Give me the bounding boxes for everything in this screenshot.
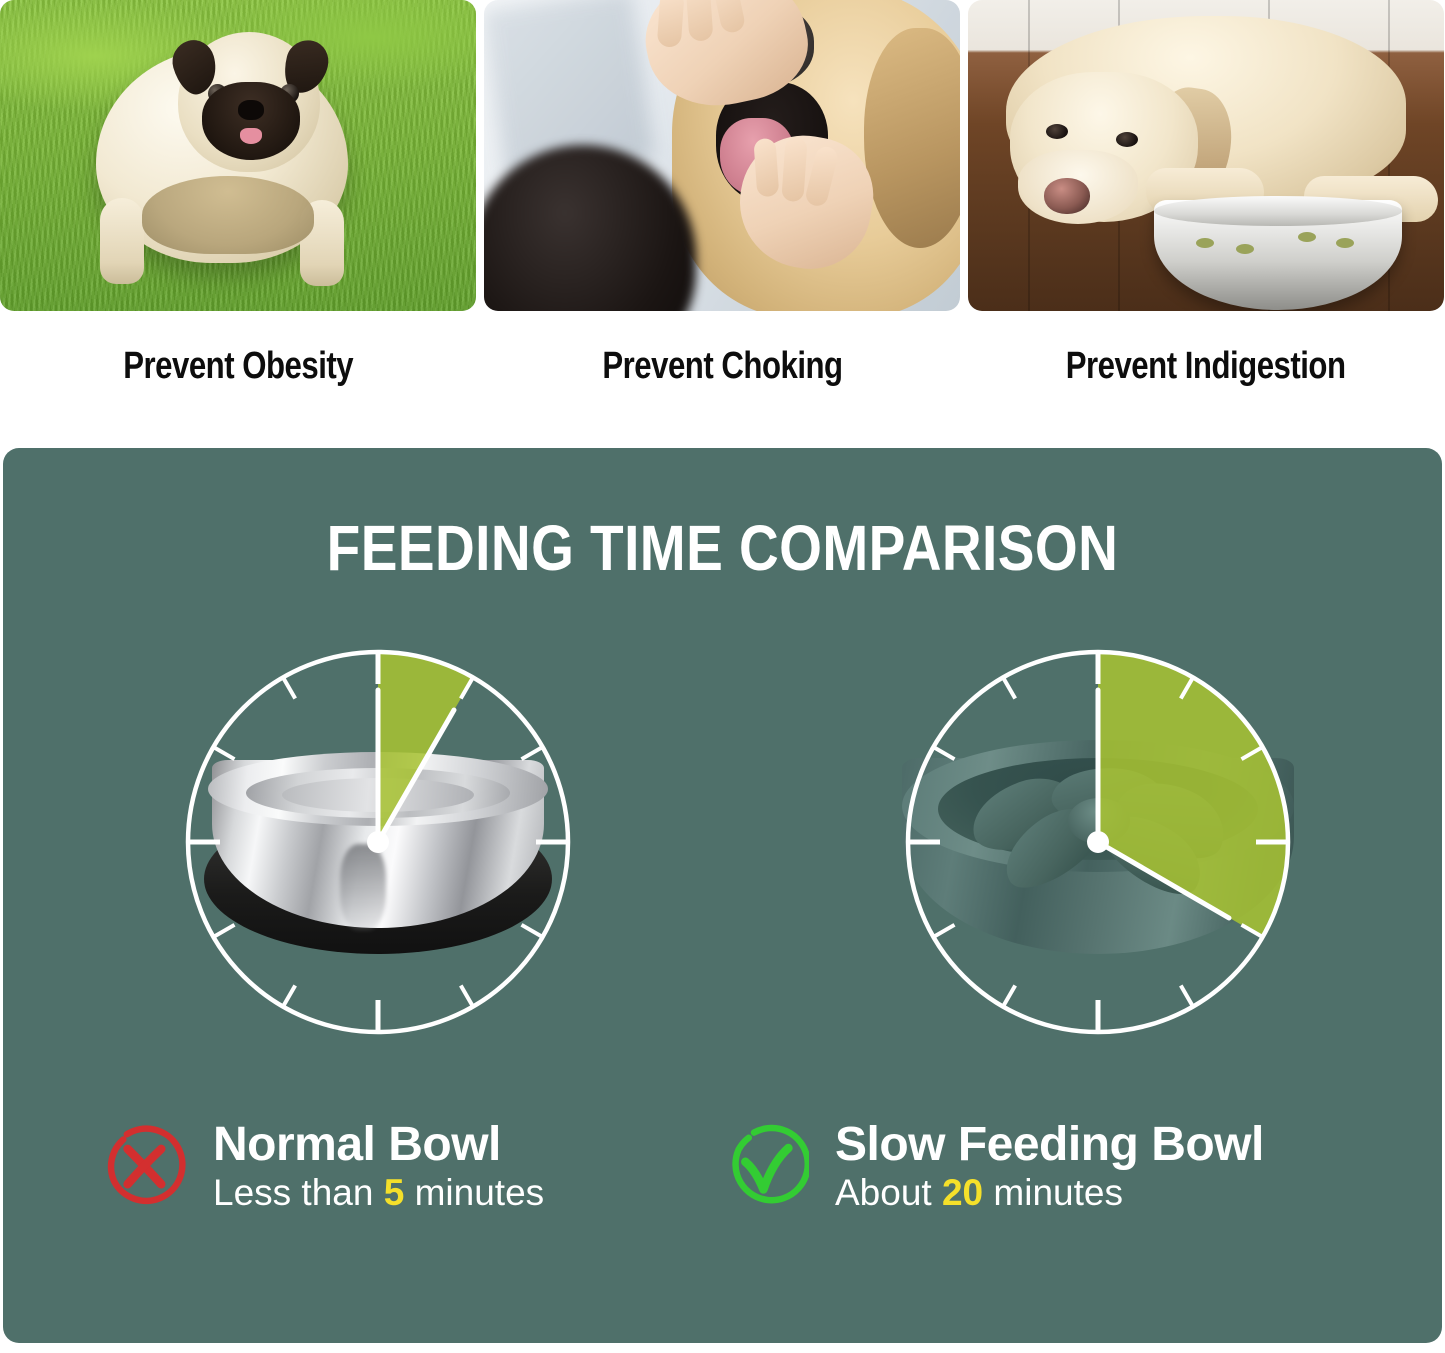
clock-center-pin xyxy=(1087,831,1109,853)
blurred-person-head xyxy=(484,145,696,311)
legend-row: Normal Bowl Less than 5 minutes Slow Fee… xyxy=(3,1120,1442,1270)
photo-prevent-choking xyxy=(484,0,960,311)
legend-text-slow: Slow Feeding Bowl About 20 minutes xyxy=(835,1120,1264,1214)
panel-title: FEEDING TIME COMPARISON xyxy=(104,516,1342,580)
grass-background xyxy=(0,0,476,311)
benefit-card-obesity: Prevent Obesity xyxy=(0,0,476,430)
finger xyxy=(711,0,747,35)
pug-front-leg-left xyxy=(100,198,144,284)
clock-center-pin xyxy=(367,831,389,853)
pug-underside-shadow xyxy=(142,176,314,254)
kibble-piece xyxy=(1196,238,1214,248)
kibble-piece xyxy=(1336,238,1354,248)
legend-slow-feeding-bowl: Slow Feeding Bowl About 20 minutes xyxy=(723,1120,1264,1214)
pug-nose xyxy=(238,100,264,120)
clock-comparison-row xyxy=(3,632,1442,1072)
photo-prevent-indigestion xyxy=(968,0,1444,311)
slow-bowl-dial xyxy=(888,632,1308,1052)
benefit-caption-indigestion: Prevent Indigestion xyxy=(1066,347,1346,385)
finger xyxy=(781,137,807,202)
slow-feeding-bowl-clock xyxy=(888,632,1308,1052)
legend-subtitle-normal: Less than 5 minutes xyxy=(213,1173,544,1214)
benefit-caption-choking: Prevent Choking xyxy=(602,347,842,385)
pug-muzzle xyxy=(202,82,300,160)
finger xyxy=(753,138,779,197)
normal-bowl-dial xyxy=(168,632,588,1052)
labrador-eye-left xyxy=(1046,124,1068,139)
x-circle-icon xyxy=(101,1124,187,1210)
clinic-background xyxy=(484,0,960,311)
finger xyxy=(804,145,840,209)
legend-sub-value: 20 xyxy=(942,1172,983,1213)
benefit-card-indigestion: Prevent Indigestion xyxy=(968,0,1444,430)
normal-bowl-clock xyxy=(168,632,588,1052)
benefit-card-choking: Prevent Choking xyxy=(484,0,960,430)
legend-text-normal: Normal Bowl Less than 5 minutes xyxy=(213,1120,544,1214)
legend-sub-value: 5 xyxy=(384,1172,405,1213)
labrador-eye-right xyxy=(1116,132,1138,147)
legend-title-slow: Slow Feeding Bowl xyxy=(835,1120,1264,1171)
labrador-nose xyxy=(1044,178,1090,214)
kibble-piece xyxy=(1236,244,1254,254)
comparison-panel: FEEDING TIME COMPARISON xyxy=(3,448,1442,1343)
finger xyxy=(685,0,713,42)
check-circle-icon xyxy=(723,1124,809,1210)
steel-bowl-rim xyxy=(1154,196,1402,226)
legend-sub-after: minutes xyxy=(404,1172,544,1213)
legend-sub-before: About xyxy=(835,1172,942,1213)
wood-floor-background xyxy=(968,0,1444,311)
benefits-row: Prevent Obesity xyxy=(0,0,1445,430)
legend-title-normal: Normal Bowl xyxy=(213,1120,544,1171)
kibble-piece xyxy=(1298,232,1316,242)
finger xyxy=(657,0,685,48)
infographic-page: Prevent Obesity xyxy=(0,0,1445,1353)
legend-sub-before: Less than xyxy=(213,1172,384,1213)
legend-sub-after: minutes xyxy=(983,1172,1123,1213)
photo-prevent-obesity xyxy=(0,0,476,311)
legend-normal-bowl: Normal Bowl Less than 5 minutes xyxy=(101,1120,544,1214)
pug-tongue xyxy=(240,128,262,144)
benefit-caption-obesity: Prevent Obesity xyxy=(123,347,353,385)
legend-subtitle-slow: About 20 minutes xyxy=(835,1173,1264,1214)
